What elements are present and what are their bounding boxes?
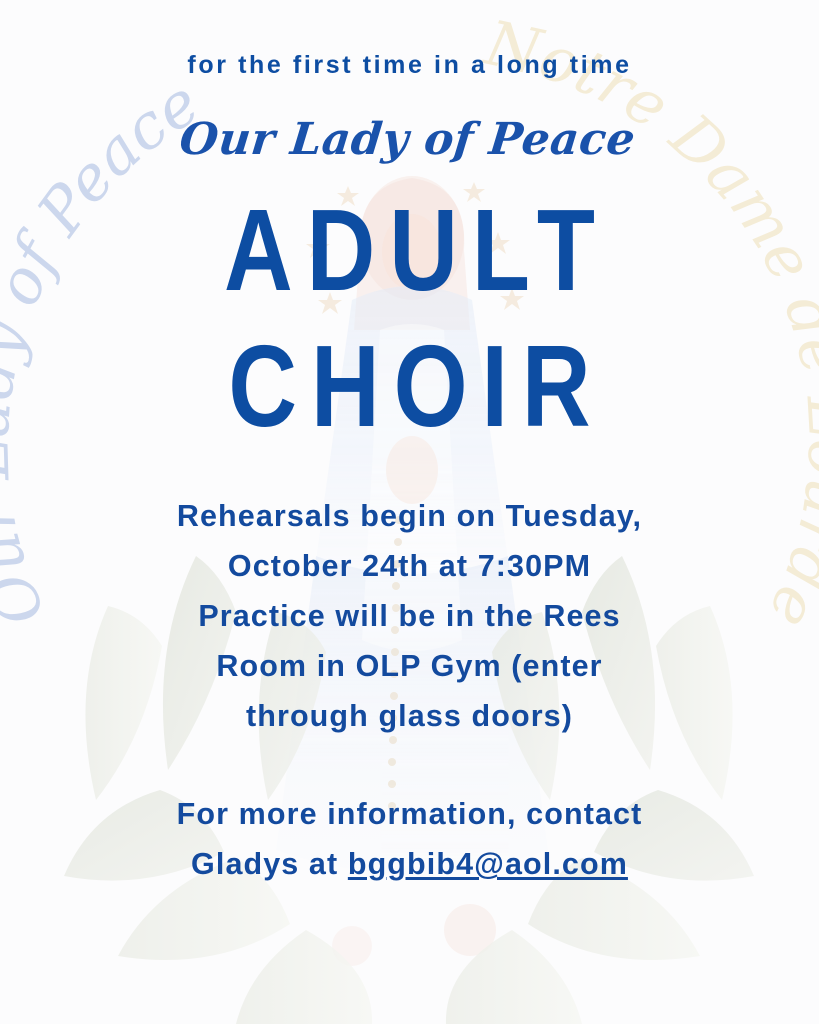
title-line-2: CHOIR bbox=[74, 318, 746, 455]
choir-flyer: Our Lady of Peace Notre Dame de Lourdes … bbox=[0, 0, 819, 1024]
details-line-4: Room in OLP Gym (enter bbox=[0, 641, 819, 691]
parish-brand-script: Our Lady of Peace bbox=[0, 80, 819, 162]
contact-line-2: Gladys at bggbib4@aol.com bbox=[0, 839, 819, 889]
email-link[interactable]: bggbib4@aol.com bbox=[348, 847, 628, 881]
details-line-2: October 24th at 7:30PM bbox=[0, 541, 819, 591]
contact-block: For more information, contact Gladys at … bbox=[0, 741, 819, 889]
page-title: ADULT CHOIR bbox=[74, 162, 746, 456]
contact-line-1: For more information, contact bbox=[0, 789, 819, 839]
eyebrow-text: for the first time in a long time bbox=[0, 0, 819, 80]
poster-content: for the first time in a long time Our La… bbox=[0, 0, 819, 889]
details-line-5: through glass doors) bbox=[0, 691, 819, 741]
details-block: Rehearsals begin on Tuesday, October 24t… bbox=[0, 455, 819, 741]
contact-prefix: Gladys at bbox=[191, 847, 348, 881]
title-line-1: ADULT bbox=[74, 182, 746, 319]
details-line-1: Rehearsals begin on Tuesday, bbox=[0, 491, 819, 541]
details-line-3: Practice will be in the Rees bbox=[0, 591, 819, 641]
